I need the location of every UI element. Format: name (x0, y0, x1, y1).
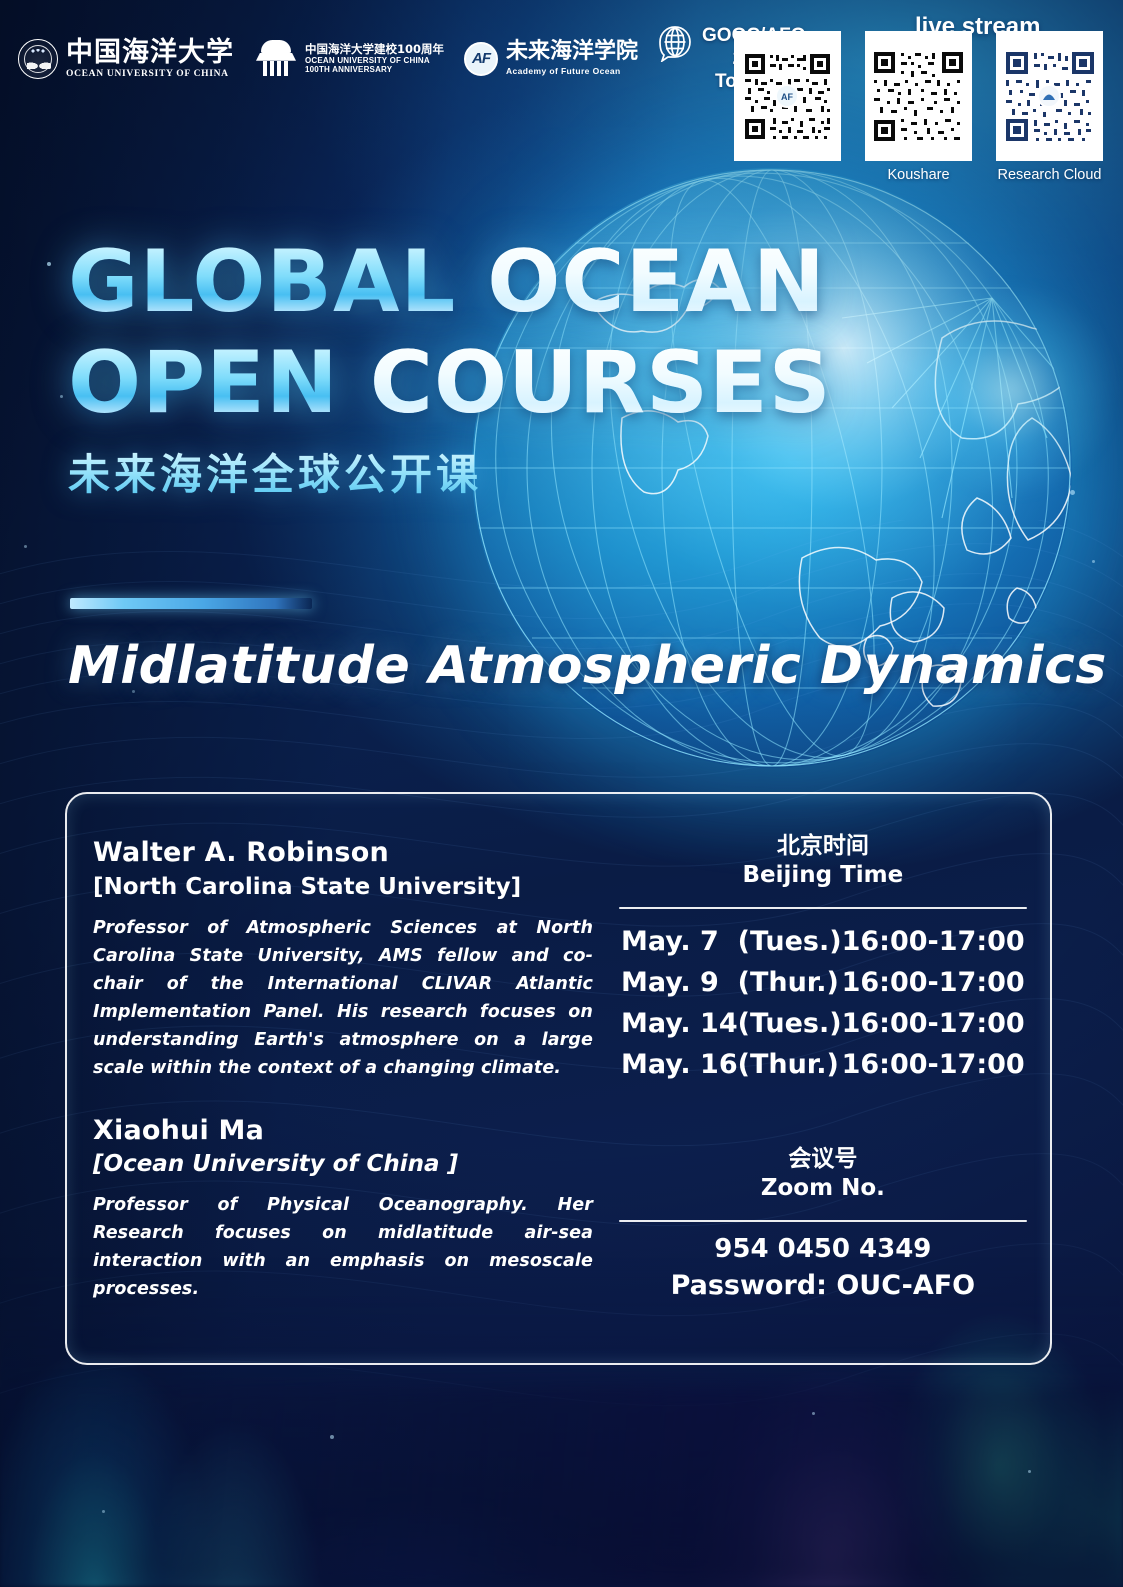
zoom-meeting-number: 954 0450 4349 (617, 1234, 1029, 1264)
afo-logo-cn: 未来海洋学院 (506, 41, 638, 63)
qr-code-koushare[interactable]: Koushare (865, 31, 972, 183)
afo-mark-text: AF (472, 50, 490, 67)
title-open: OPEN (68, 333, 339, 433)
schedule-day-0: (Tues.) (738, 921, 842, 962)
schedule-date-0: May. 7 (617, 921, 738, 962)
research-cloud-caption: Research Cloud (996, 167, 1103, 183)
afo-mark-icon: AF (464, 42, 498, 76)
anniversary-cn: 中国海洋大学建校100周年 (305, 43, 444, 56)
ouc-seal-icon (18, 39, 58, 79)
accent-divider-bar (70, 598, 312, 609)
zoom-heading-cn: 会议号 (617, 1145, 1029, 1174)
zoom-info-block: 会议号 Zoom No. 954 0450 4349 Password: OUC… (617, 1145, 1029, 1301)
schedule-column: 北京时间 Beijing Time May. 7 (Tues.) 16:00-1… (593, 794, 1053, 1363)
afo-logo-en: Academy of Future Ocean (506, 66, 638, 76)
speaker-2-bio: Professor of Physical Oceanography. Her … (93, 1191, 593, 1303)
speaker-block-2: Xiaohui Ma [Ocean University of China ] … (93, 1114, 593, 1304)
title-courses: COURSES (370, 333, 832, 433)
schedule-day-2: (Tues.) (738, 1003, 842, 1044)
table-row: May. 14 (Tues.) 16:00-17:00 (617, 1003, 1029, 1044)
title-global: GLOBAL (68, 232, 456, 332)
speaker-2-affiliation: [Ocean University of China ] (93, 1150, 593, 1180)
qr-code-afo[interactable]: AF (734, 31, 841, 161)
schedule-divider (619, 907, 1027, 910)
schedule-date-2: May. 14 (617, 1003, 738, 1044)
poster-root: 中国海洋大学 OCEAN UNIVERSITY OF CHINA 中国海洋大学建… (0, 0, 1123, 1587)
ouc-logo-cn: 中国海洋大学 (66, 39, 234, 66)
speaker-1-bio: Professor of Atmospheric Sciences at Nor… (93, 914, 593, 1082)
ouc-logo: 中国海洋大学 OCEAN UNIVERSITY OF CHINA (18, 39, 234, 79)
schedule-time-2: 16:00-17:00 (842, 1003, 1029, 1044)
speaker-block-1: Walter A. Robinson [North Carolina State… (93, 836, 593, 1082)
anniversary-logo: 中国海洋大学建校100周年 OCEAN UNIVERSITY OF CHINA … (256, 40, 444, 78)
title-line-1: GLOBAL OCEAN (68, 232, 832, 333)
schedule-day-3: (Thur.) (738, 1044, 842, 1085)
info-panel: Walter A. Robinson [North Carolina State… (65, 792, 1052, 1365)
main-title-block: GLOBAL OCEAN OPEN COURSES 未来海洋全球公开课 (68, 232, 832, 502)
schedule-time-0: 16:00-17:00 (842, 921, 1029, 962)
afo-qr-icon[interactable]: AF (734, 31, 841, 161)
afo-logo: AF 未来海洋学院 Academy of Future Ocean (464, 41, 638, 76)
title-line-2: OPEN COURSES (68, 333, 832, 434)
speaker-1-name: Walter A. Robinson (93, 836, 593, 870)
zoom-divider (619, 1220, 1027, 1223)
title-ocean: OCEAN (487, 232, 826, 332)
speaker-1-affiliation: [North Carolina State University] (93, 873, 593, 903)
zoom-heading-en: Zoom No. (617, 1174, 1029, 1204)
schedule-time-1: 16:00-17:00 (842, 962, 1029, 1003)
koushare-qr-icon[interactable] (865, 31, 972, 161)
speaker-2-name: Xiaohui Ma (93, 1114, 593, 1148)
zoom-password: Password: OUC-AFO (617, 1270, 1029, 1301)
table-row: May. 16 (Thur.) 16:00-17:00 (617, 1044, 1029, 1085)
ouc-logo-en: OCEAN UNIVERSITY OF CHINA (66, 69, 234, 79)
anniversary-building-icon (256, 40, 296, 78)
table-row: May. 9 (Thur.) 16:00-17:00 (617, 962, 1029, 1003)
title-subtitle-cn: 未来海洋全球公开课 (68, 441, 832, 502)
table-row: May. 7 (Tues.) 16:00-17:00 (617, 921, 1029, 962)
speakers-column: Walter A. Robinson [North Carolina State… (67, 794, 593, 1363)
svg-text:AF: AF (781, 92, 793, 102)
schedule-day-1: (Thur.) (738, 962, 842, 1003)
poster-header: 中国海洋大学 OCEAN UNIVERSITY OF CHINA 中国海洋大学建… (0, 0, 1123, 200)
logo-row: 中国海洋大学 OCEAN UNIVERSITY OF CHINA 中国海洋大学建… (18, 24, 805, 94)
schedule-table: May. 7 (Tues.) 16:00-17:00 May. 9 (Thur.… (617, 921, 1029, 1085)
schedule-heading-en: Beijing Time (617, 861, 1029, 891)
anniversary-en-2: 100TH ANNIVERSARY (305, 65, 444, 75)
research-cloud-qr-icon[interactable] (996, 31, 1103, 161)
koushare-caption: Koushare (865, 167, 972, 183)
schedule-date-1: May. 9 (617, 962, 738, 1003)
globe-chat-icon (656, 24, 694, 62)
qr-code-research-cloud[interactable]: Research Cloud (996, 31, 1103, 183)
schedule-time-3: 16:00-17:00 (842, 1044, 1029, 1085)
course-title: Midlatitude Atmospheric Dynamics (68, 636, 1107, 696)
schedule-date-3: May. 16 (617, 1044, 738, 1085)
schedule-heading-cn: 北京时间 (617, 832, 1029, 861)
anniversary-en-1: OCEAN UNIVERSITY OF CHINA (305, 56, 444, 66)
